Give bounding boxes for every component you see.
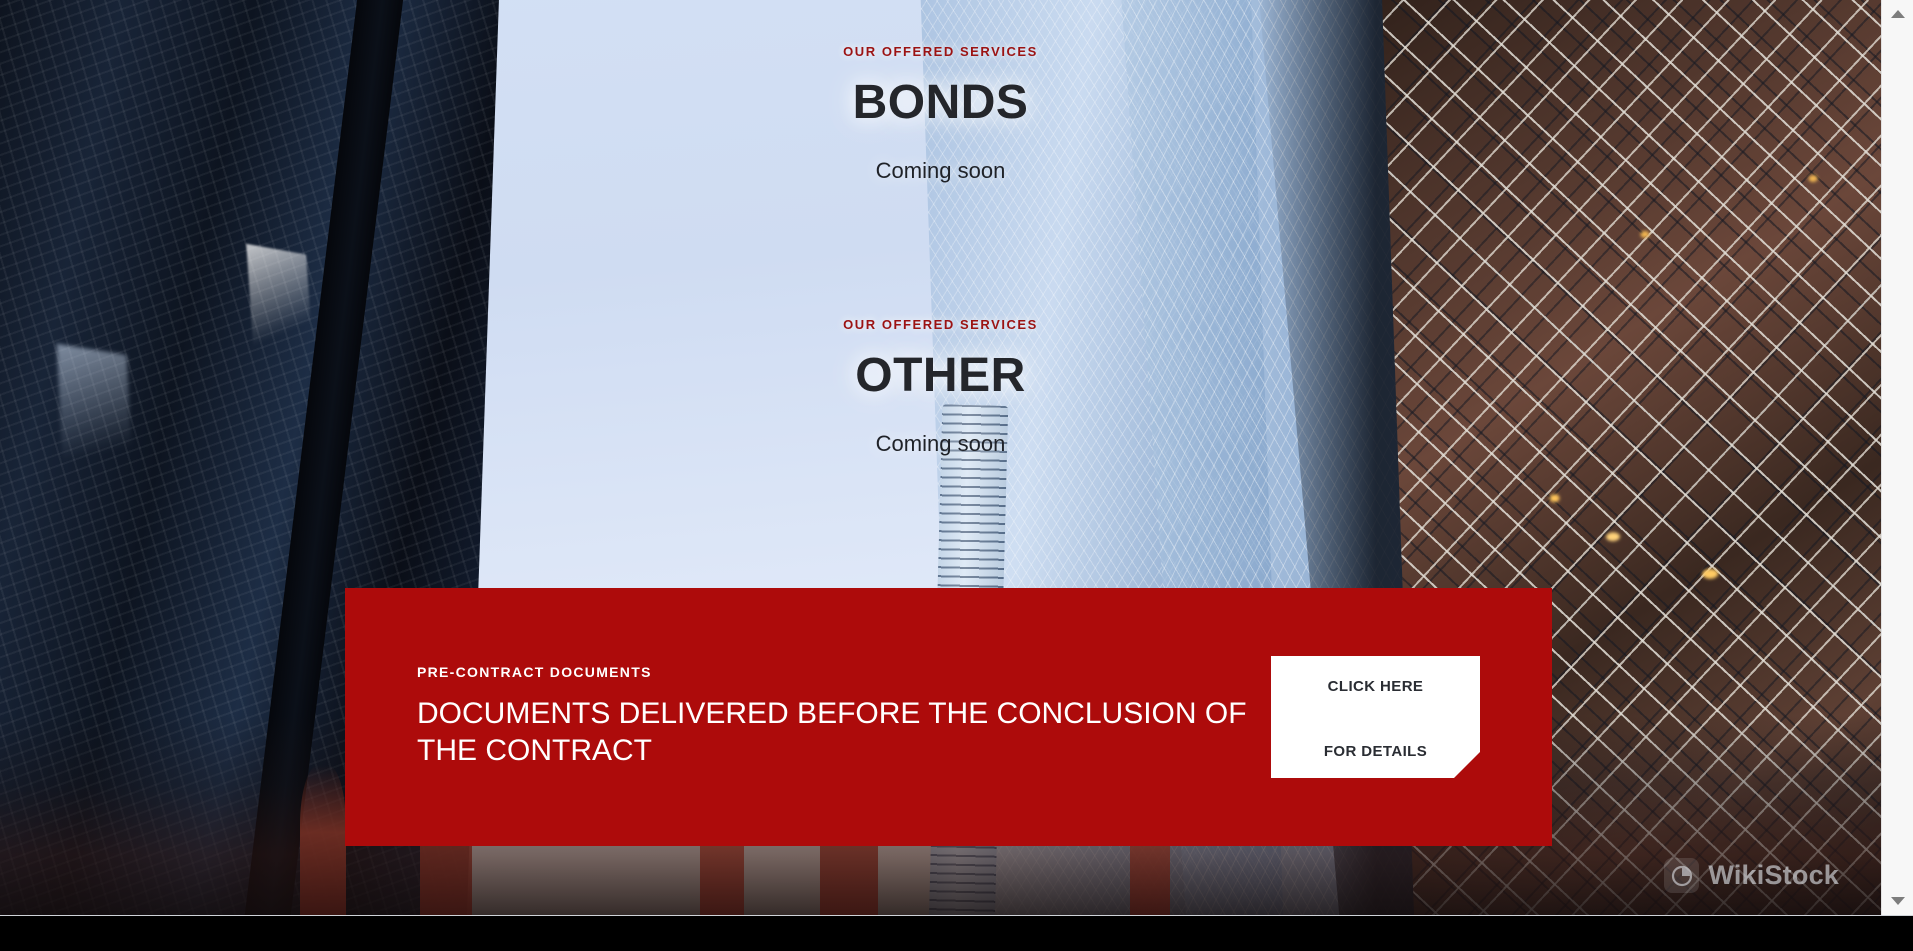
service-section-bonds: OUR OFFERED SERVICES BONDS Coming soon	[0, 44, 1881, 184]
button-line-two: FOR DETAILS	[1324, 743, 1427, 760]
pre-contract-documents-banner: PRE-CONTRACT DOCUMENTS DOCUMENTS DELIVER…	[345, 588, 1552, 846]
hero-background-image: OUR OFFERED SERVICES BONDS Coming soon O…	[0, 0, 1881, 915]
browser-viewport: OUR OFFERED SERVICES BONDS Coming soon O…	[0, 0, 1913, 951]
scroll-up-arrow-icon[interactable]	[1882, 4, 1913, 24]
banner-kicker: PRE-CONTRACT DOCUMENTS	[417, 664, 1271, 680]
click-here-for-details-button[interactable]: CLICK HERE FOR DETAILS	[1271, 656, 1480, 778]
wikistock-watermark-text: WikiStock	[1708, 860, 1839, 891]
button-line-one: CLICK HERE	[1328, 678, 1424, 695]
banner-text-group: PRE-CONTRACT DOCUMENTS DOCUMENTS DELIVER…	[345, 664, 1271, 769]
service-subtitle: Coming soon	[0, 431, 1881, 457]
service-kicker: OUR OFFERED SERVICES	[0, 44, 1881, 59]
wikistock-watermark: WikiStock	[1664, 858, 1839, 893]
scroll-down-arrow-icon[interactable]	[1882, 891, 1913, 911]
service-kicker: OUR OFFERED SERVICES	[0, 317, 1881, 332]
banner-headline: DOCUMENTS DELIVERED BEFORE THE CONCLUSIO…	[417, 696, 1247, 769]
wikistock-logo-icon	[1664, 858, 1699, 893]
bottom-chrome-bar	[0, 915, 1913, 951]
service-title: OTHER	[0, 348, 1881, 403]
service-title: BONDS	[0, 75, 1881, 130]
corner-triangle-icon	[1454, 752, 1480, 778]
service-section-other: OUR OFFERED SERVICES OTHER Coming soon	[0, 317, 1881, 457]
vertical-scrollbar[interactable]	[1881, 0, 1913, 915]
service-subtitle: Coming soon	[0, 158, 1881, 184]
